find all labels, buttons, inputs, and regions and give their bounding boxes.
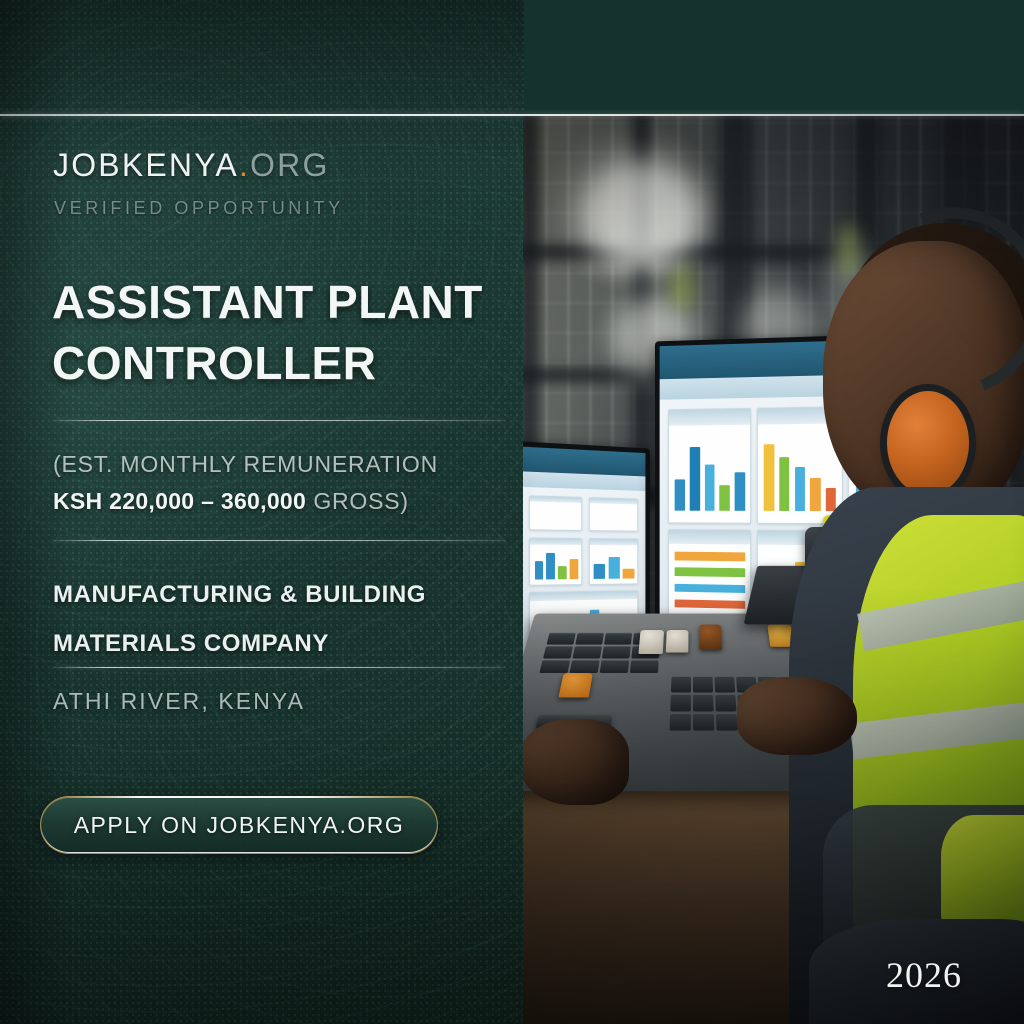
white-knob-2[interactable] [666,630,689,653]
dashboard-chart-tile [668,408,751,524]
poster-content: JOBKENYA.ORG VERIFIED OPPORTUNITY ASSIST… [0,0,524,1024]
company-line-2: MATERIALS COMPANY [53,619,513,668]
brand-logo-dot: . [239,147,250,183]
salary-block: (EST. MONTHLY REMUNERATION KSH 220,000 –… [53,446,513,521]
company-line-1: MANUFACTURING & BUILDING [53,570,513,619]
worker-hand-right [523,719,629,805]
dashboard-tile [529,495,582,531]
brand-logo-main: JOBKENYA [53,147,239,183]
company-block: MANUFACTURING & BUILDING MATERIALS COMPA… [53,570,513,668]
year-label: 2026 [886,954,962,996]
job-location: ATHI RIVER, KENYA [53,688,305,715]
section-divider-1 [52,420,505,421]
operator-photo [523,115,1024,1024]
job-title-line-1: ASSISTANT PLANT [52,272,512,333]
job-title-line-2: CONTROLLER [52,333,512,394]
brand-tagline: VERIFIED OPPORTUNITY [54,198,344,219]
apply-button[interactable]: APPLY ON JOBKENYA.ORG [40,796,438,854]
section-divider-2 [52,540,505,541]
brown-knob[interactable] [699,625,722,650]
section-divider-3 [52,667,505,668]
dashboard-tile [588,497,638,532]
apply-button-label: APPLY ON JOBKENYA.ORG [74,812,405,839]
worker-hand-left [737,677,857,755]
job-poster: JOBKENYA.ORG VERIFIED OPPORTUNITY ASSIST… [0,0,1024,1024]
window-glow-1 [581,159,701,269]
white-knob-1[interactable] [639,630,665,654]
salary-suffix: GROSS) [313,488,409,514]
ear-defender-cup [887,391,969,495]
brand-logo[interactable]: JOBKENYA.ORG [53,147,330,184]
salary-amount: KSH 220,000 – 360,000 [53,488,306,514]
orange-knob-1[interactable] [558,673,592,697]
job-title: ASSISTANT PLANT CONTROLLER [52,272,512,393]
dashboard-tile [529,537,582,585]
dashboard-tile [588,538,638,585]
salary-prefix: (EST. MONTHLY REMUNERATION [53,451,438,477]
brand-logo-tld: ORG [250,147,330,183]
green-machine-accent-1 [669,265,695,311]
green-machine-accent-3 [839,223,857,279]
